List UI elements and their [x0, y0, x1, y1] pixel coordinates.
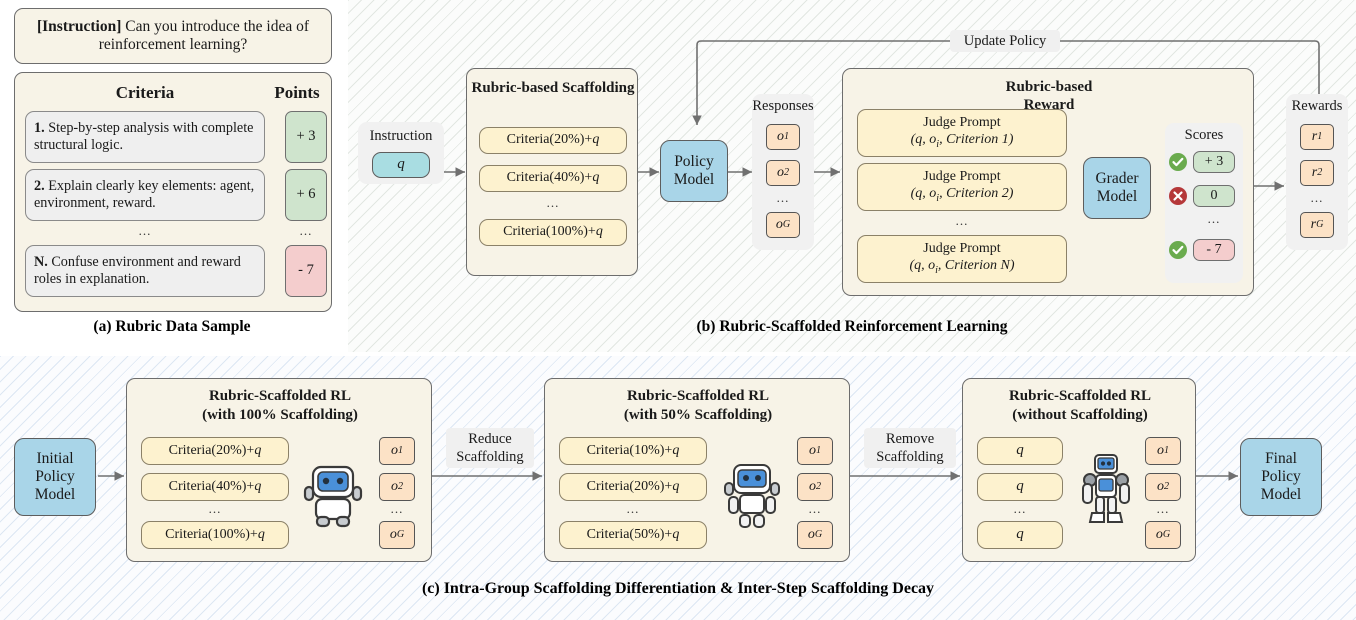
stage-title-1: Rubric-Scaffolded RL (with 100% Scaffold…: [127, 387, 433, 425]
cross-icon: [1169, 187, 1187, 205]
stage-output: oG: [1145, 521, 1181, 549]
stage-input-ellipsis: ...: [977, 501, 1063, 516]
stage-input: Criteria(40%)+q: [141, 473, 289, 501]
grader-model-box: GraderModel: [1083, 157, 1151, 219]
robot-stage-3-icon: [1077, 451, 1135, 533]
rubric-based-reward-container: Rubric-basedReward Judge Prompt (q, oi, …: [842, 68, 1254, 296]
stage-container-1: Rubric-Scaffolded RL (with 100% Scaffold…: [126, 378, 432, 562]
rubric-based-scaffolding-container: Rubric-based Scaffolding Criteria(20%)+q…: [466, 68, 638, 276]
instruction-text: Can you introduce the idea of reinforcem…: [99, 18, 309, 53]
judge-prompt-line1: Judge Prompt: [923, 169, 1000, 186]
transition-label-remove: Remove Scaffolding: [864, 428, 956, 468]
robot-stage-2-icon: [723, 459, 781, 537]
stage-input: q: [977, 473, 1063, 501]
points-badge: + 3: [285, 111, 327, 163]
scaffolding-item: Criteria(40%)+q: [479, 165, 627, 192]
score-badge: - 7: [1193, 239, 1235, 261]
scaffolding-ellipsis: ...: [479, 195, 627, 210]
scores-ellipsis: ...: [1193, 211, 1235, 226]
judge-prompt-line1: Judge Prompt: [923, 115, 1000, 132]
rewards-label: Rewards: [1282, 98, 1352, 115]
points-badge: - 7: [285, 245, 327, 297]
stage-input: q: [977, 437, 1063, 465]
criteria-ellipsis: ...: [25, 223, 265, 238]
final-policy-model-label: FinalPolicyModel: [1261, 450, 1301, 505]
stage-input: q: [977, 521, 1063, 549]
score-badge: 0: [1193, 185, 1235, 207]
stage-output: o2: [1145, 473, 1181, 501]
stage-input-ellipsis: ...: [141, 501, 289, 516]
stage-title-3: Rubric-Scaffolded RL (without Scaffoldin…: [963, 387, 1197, 425]
criteria-number: 1.: [34, 120, 45, 136]
stage-title-2: Rubric-Scaffolded RL (with 50% Scaffoldi…: [545, 387, 851, 425]
judge-prompt-box: Judge Prompt (q, oi, Criterion 1): [857, 109, 1067, 157]
stage-output: o1: [797, 437, 833, 465]
reward-token: r1: [1300, 124, 1334, 150]
caption-panel-b: (b) Rubric-Scaffolded Reinforcement Lear…: [348, 318, 1356, 336]
grader-model-label: GraderModel: [1095, 170, 1138, 207]
stage-container-3: Rubric-Scaffolded RL (without Scaffoldin…: [962, 378, 1196, 562]
scaffolding-item: Criteria(20%)+q: [479, 127, 627, 154]
rubric-card: Criteria Points 1. Step-by-step analysis…: [14, 72, 332, 312]
update-policy-label: Update Policy: [950, 30, 1060, 52]
score-badge: + 3: [1193, 151, 1235, 173]
judge-prompt-box: Judge Prompt (q, oi, Criterion 2): [857, 163, 1067, 211]
response-token: oG: [766, 212, 800, 238]
stage-output: o1: [1145, 437, 1181, 465]
judge-prompt-line2: (q, oi, Criterion 2): [911, 186, 1014, 205]
header-criteria: Criteria: [25, 83, 265, 103]
panel-rubric-data-sample: [Instruction] Can you introduce the idea…: [0, 0, 344, 352]
responses-ellipsis: ...: [766, 190, 800, 206]
criteria-row: 1. Step-by-step analysis with complete s…: [25, 111, 265, 163]
stage-output-ellipsis: ...: [379, 501, 415, 516]
stage-output-ellipsis: ...: [797, 501, 833, 516]
judge-prompt-line1: Judge Prompt: [923, 241, 1000, 258]
scores-label: Scores: [1165, 127, 1243, 144]
criteria-row: 2. Explain clearly key elements: agent, …: [25, 169, 265, 221]
instruction-token: q: [372, 152, 430, 178]
instruction-card: [Instruction] Can you introduce the idea…: [14, 8, 332, 64]
points-badge: + 6: [285, 169, 327, 221]
instruction-label: Instruction: [358, 128, 444, 145]
stage-output: oG: [379, 521, 415, 549]
check-icon: [1169, 241, 1187, 259]
criteria-text: Explain clearly key elements: agent, env…: [34, 178, 254, 211]
stage-container-2: Rubric-Scaffolded RL (with 50% Scaffoldi…: [544, 378, 850, 562]
robot-stage-1-icon: [301, 459, 365, 537]
stage-output: o2: [797, 473, 833, 501]
panel-scaffolding-decay: InitialPolicyModel Reduce Scaffolding Re…: [0, 356, 1356, 620]
policy-model-box: PolicyModel: [660, 140, 728, 202]
caption-panel-a: (a) Rubric Data Sample: [0, 318, 344, 336]
stage-output: o1: [379, 437, 415, 465]
reward-token: rG: [1300, 212, 1334, 238]
points-ellipsis: ...: [285, 223, 327, 238]
response-token: o2: [766, 160, 800, 186]
instruction-tag: [Instruction]: [37, 18, 121, 35]
rewards-ellipsis: ...: [1300, 190, 1334, 206]
stage-input: Criteria(20%)+q: [141, 437, 289, 465]
stage-output: o2: [379, 473, 415, 501]
reward-token: r2: [1300, 160, 1334, 186]
header-points: Points: [267, 83, 327, 103]
stage-input-ellipsis: ...: [559, 501, 707, 516]
judge-prompt-line2: (q, oi, Criterion N): [909, 258, 1014, 277]
check-icon: [1169, 153, 1187, 171]
criteria-text: Confuse environment and reward roles in …: [34, 254, 241, 287]
final-policy-model-box: FinalPolicyModel: [1240, 438, 1322, 516]
stage-output-ellipsis: ...: [1145, 501, 1181, 516]
stage-input: Criteria(10%)+q: [559, 437, 707, 465]
scaffolding-item: Criteria(100%)+q: [479, 219, 627, 246]
criteria-number: N.: [34, 254, 48, 270]
criteria-text: Step-by-step analysis with complete stru…: [34, 120, 253, 153]
judge-prompt-box: Judge Prompt (q, oi, Criterion N): [857, 235, 1067, 283]
criteria-row: N. Confuse environment and reward roles …: [25, 245, 265, 297]
caption-panel-c: (c) Intra-Group Scaffolding Differentiat…: [0, 580, 1356, 598]
stage-input: Criteria(20%)+q: [559, 473, 707, 501]
criteria-number: 2.: [34, 178, 45, 194]
policy-model-label: PolicyModel: [674, 153, 714, 190]
panel-rubric-scaffolded-rl: Update Policy Instruction q Rubric-based…: [348, 0, 1356, 352]
judge-prompt-line2: (q, oi, Criterion 1): [911, 132, 1014, 151]
stage-output: oG: [797, 521, 833, 549]
initial-policy-model-box: InitialPolicyModel: [14, 438, 96, 516]
response-token: o1: [766, 124, 800, 150]
scaffolding-title: Rubric-based Scaffolding: [467, 79, 639, 97]
stage-input: Criteria(100%)+q: [141, 521, 289, 549]
initial-policy-model-label: InitialPolicyModel: [35, 450, 75, 505]
transition-label-reduce: Reduce Scaffolding: [446, 428, 534, 468]
responses-label: Responses: [744, 98, 822, 115]
judge-prompt-ellipsis: ...: [857, 213, 1067, 228]
stage-input: Criteria(50%)+q: [559, 521, 707, 549]
